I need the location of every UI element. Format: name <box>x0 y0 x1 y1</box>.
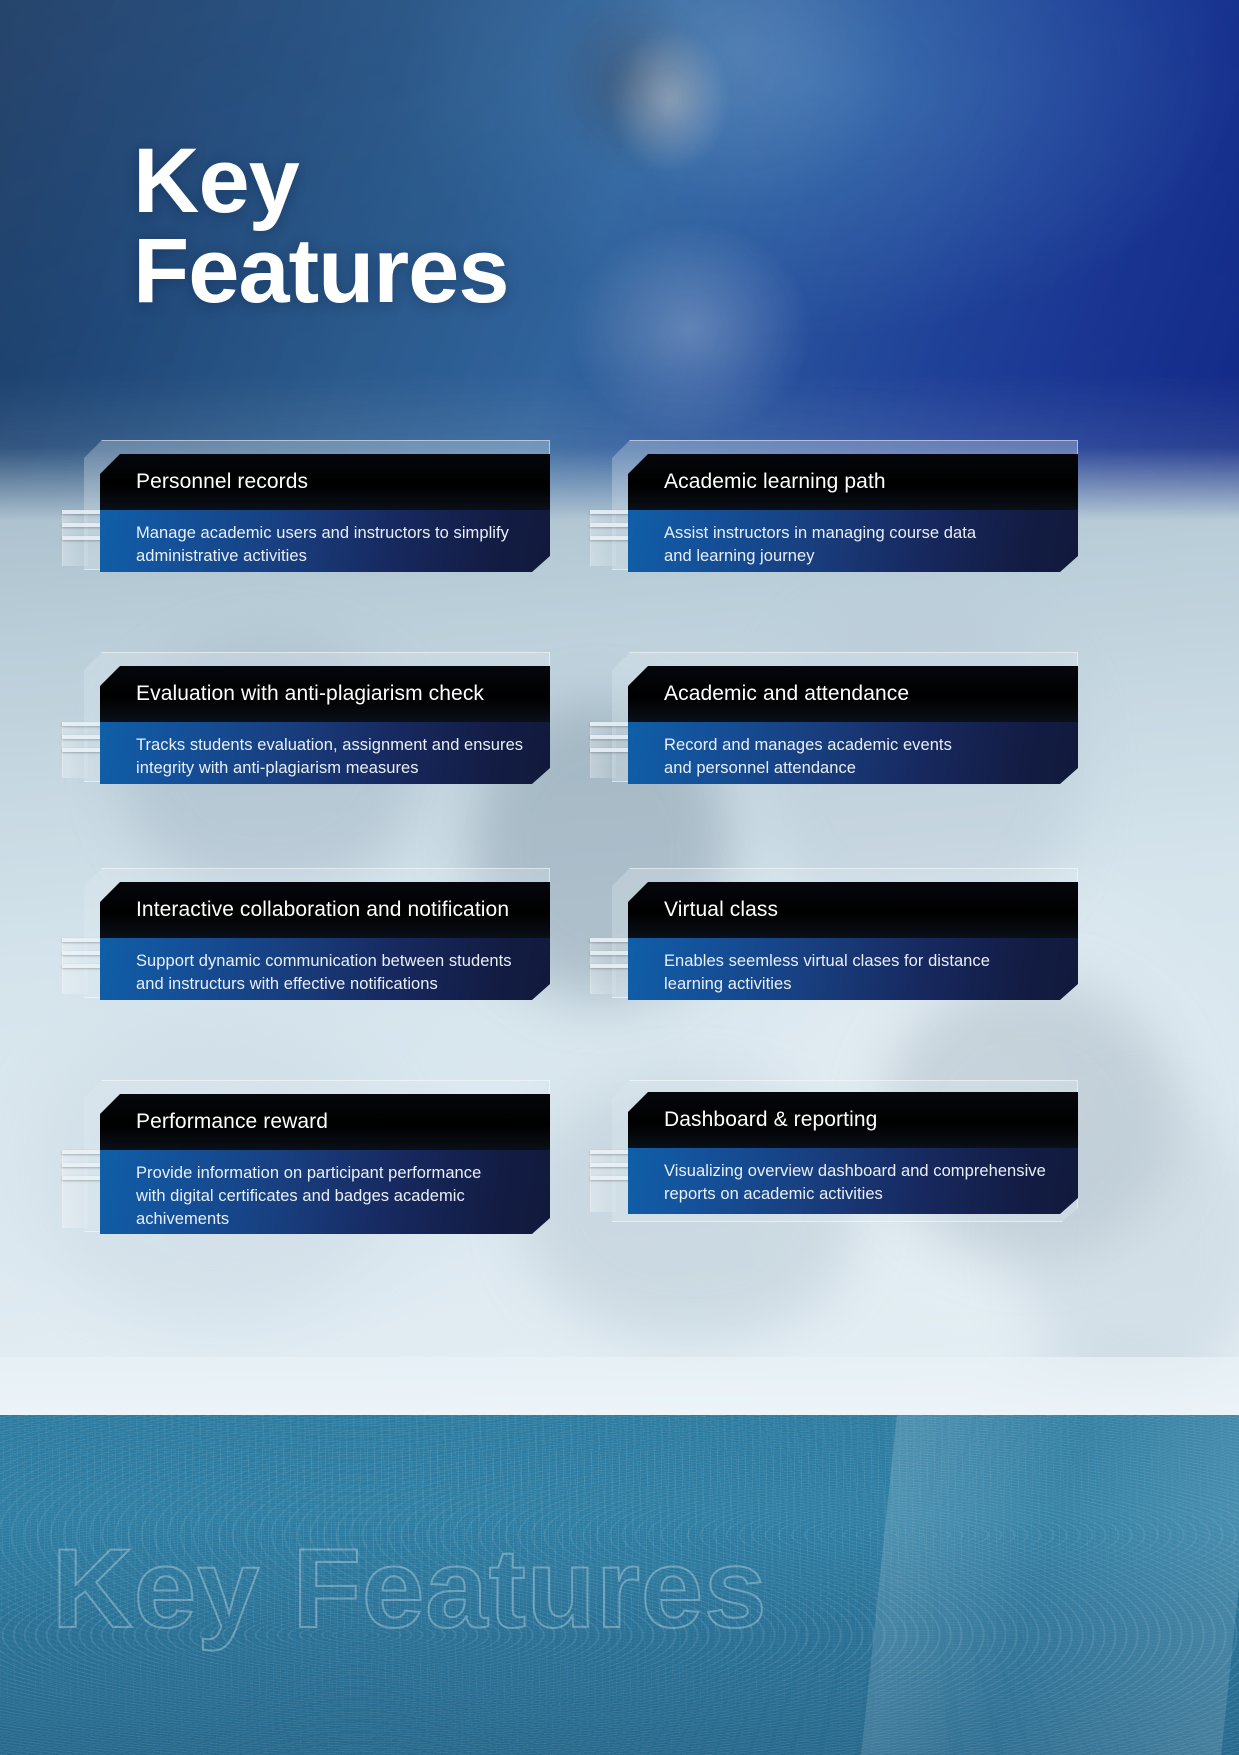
card-body: Tracks students evaluation, assignment a… <box>100 722 550 784</box>
card-header: Personnel records <box>100 454 550 510</box>
card-body: Provide information on participant perfo… <box>100 1150 550 1234</box>
card-title: Interactive collaboration and notificati… <box>100 898 509 922</box>
card-body: Visualizing overview dashboard and compr… <box>628 1148 1078 1214</box>
card-body: Manage academic users and instructors to… <box>100 510 550 572</box>
card-description: Provide information on participant perfo… <box>136 1162 530 1230</box>
light-separator-band <box>0 1357 1239 1415</box>
card-title: Virtual class <box>628 898 778 922</box>
footer-wave-band: Key Features <box>0 1415 1239 1755</box>
card-description: Visualizing overview dashboard and compr… <box>664 1160 1058 1206</box>
card-header: Performance reward <box>100 1094 550 1150</box>
card-header: Evaluation with anti-plagiarism check <box>100 666 550 722</box>
card-body: Record and manages academic events and p… <box>628 722 1078 784</box>
card-body: Enables seemless virtual clases for dist… <box>628 938 1078 1000</box>
card-header: Academic learning path <box>628 454 1078 510</box>
card-header: Academic and attendance <box>628 666 1078 722</box>
card-title: Performance reward <box>100 1110 328 1134</box>
card-header: Interactive collaboration and notificati… <box>100 882 550 938</box>
card-body: Support dynamic communication between st… <box>100 938 550 1000</box>
card-description: Enables seemless virtual clases for dist… <box>664 950 1058 996</box>
card-description: Record and manages academic events and p… <box>664 734 1058 780</box>
card-title: Personnel records <box>100 470 308 494</box>
card-body: Assist instructors in managing course da… <box>628 510 1078 572</box>
card-description: Assist instructors in managing course da… <box>664 522 1058 568</box>
glass-streak-overlay <box>857 1415 1239 1755</box>
footer-watermark-text: Key Features <box>52 1533 767 1645</box>
card-title: Academic learning path <box>628 470 886 494</box>
card-header: Virtual class <box>628 882 1078 938</box>
card-description: Support dynamic communication between st… <box>136 950 530 996</box>
card-description: Manage academic users and instructors to… <box>136 522 530 568</box>
card-title: Academic and attendance <box>628 682 909 706</box>
card-title: Evaluation with anti-plagiarism check <box>100 682 484 706</box>
card-title: Dashboard & reporting <box>628 1108 877 1132</box>
card-description: Tracks students evaluation, assignment a… <box>136 734 530 780</box>
card-header: Dashboard & reporting <box>628 1092 1078 1148</box>
poster-page: Key Features Personnel records Manage ac… <box>0 0 1239 1755</box>
